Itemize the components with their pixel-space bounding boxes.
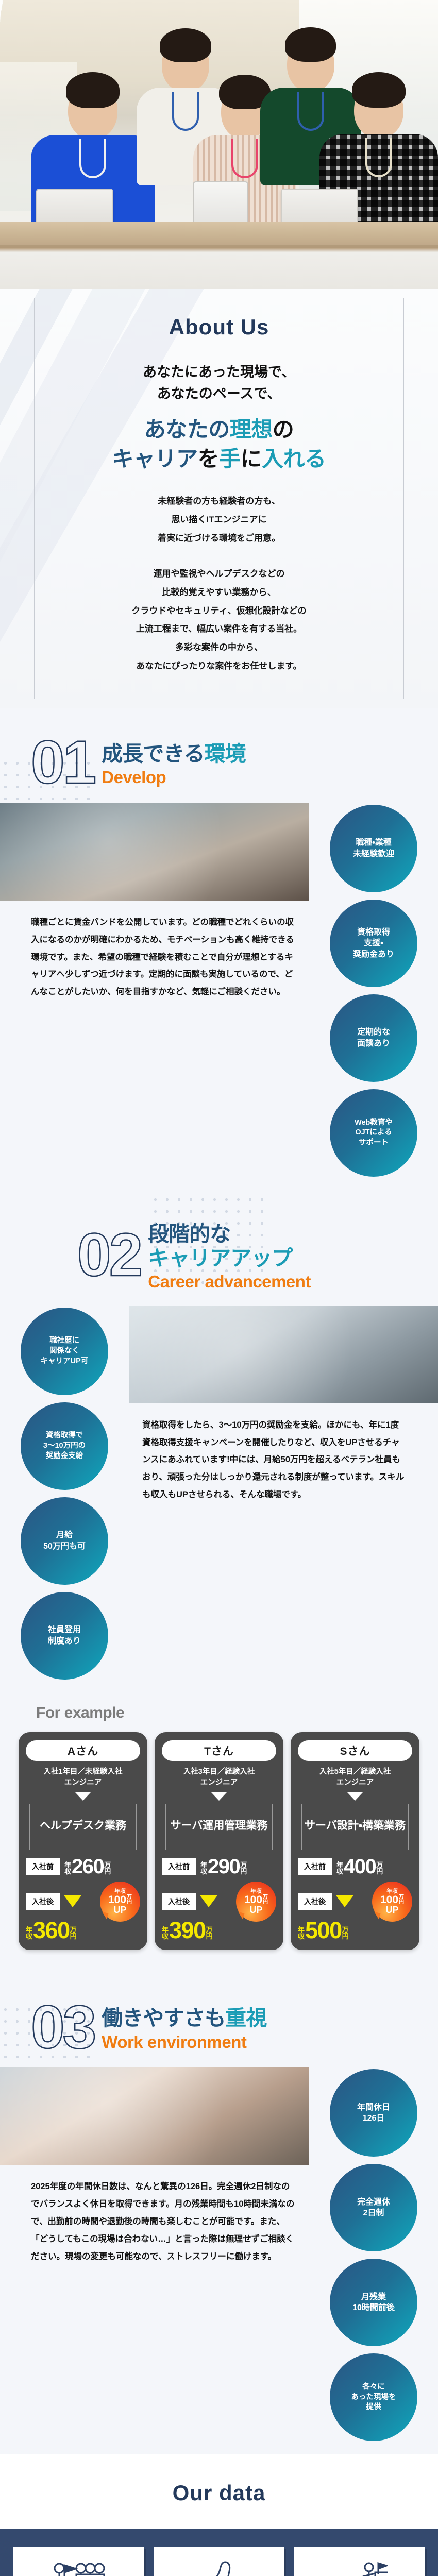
section-subtitle-02: Career advancement bbox=[148, 1272, 311, 1292]
thumbs-up-icon bbox=[191, 2560, 247, 2576]
yellow-triangle-icon bbox=[336, 1895, 353, 1907]
triangle-down-icon bbox=[75, 1792, 91, 1801]
about-hl-1a: あなたの bbox=[144, 417, 230, 442]
team-flag-icon bbox=[48, 2560, 109, 2576]
bubble-up-number: 100 bbox=[380, 1894, 398, 1905]
card-meta-line-2: エンジニア bbox=[26, 1777, 140, 1788]
about-hl-2a: キャリア bbox=[112, 447, 197, 471]
data-tile: 3〜5年の長期プロジェクトで安定就業 bbox=[154, 2547, 284, 2576]
before-tag: 入社前 bbox=[162, 1858, 196, 1875]
about-sub-line-3: 着実に近づける環境をご用意。 bbox=[46, 529, 392, 548]
badge-kanzen-shukyu: 完全週休2日制 bbox=[330, 2164, 417, 2251]
card-meta-line-1: 入社5年目／経験入社 bbox=[298, 1767, 412, 1777]
hero-photo bbox=[0, 0, 438, 289]
card-role: サーバ運用管理業務 bbox=[165, 1804, 273, 1850]
section-title-01-part-a: 成長できる bbox=[102, 742, 204, 766]
section-01-body: 職種ごとに賃金バンドを公開しています。どの職種でどれくらいの収入になるのかが明確… bbox=[0, 901, 309, 1006]
about-hl-2b: を bbox=[197, 447, 219, 471]
about-body-line-1: 運用や監視やヘルプデスクなどの bbox=[46, 565, 392, 583]
badge-teikiteki-mendan: 定期的な面談あり bbox=[330, 994, 417, 1082]
card-meta-line-1: 入社3年目／経験入社 bbox=[162, 1767, 276, 1777]
our-data-grid: 5〜10名のチーム参画 3〜5年の長期プロジェクトで安定就業 活躍中社員のうち7… bbox=[13, 2547, 425, 2576]
section-title-01: 成長できる環境 bbox=[102, 742, 245, 766]
bubble-income-label: 年収 bbox=[114, 1889, 126, 1894]
for-example-section: For example Aさん 入社1年目／未経験入社 エンジニア ヘルプデスク… bbox=[0, 1693, 438, 1973]
about-section: About Us あなたにあった現場で、 あなたのペースで、 あなたの理想の キ… bbox=[0, 289, 438, 708]
badge-tsuki-zangyo: 月残業10時間前後 bbox=[330, 2259, 417, 2346]
about-body-line-5: 多彩な案件の中から、 bbox=[46, 638, 392, 657]
section-03-body: 2025年度の年間休日数は、なんと驚異の126日。完全週休2日制なのでバランスよ… bbox=[0, 2165, 309, 2270]
bubble-up-number: 100 bbox=[244, 1894, 262, 1905]
section-subtitle-03: Work environment bbox=[102, 2032, 266, 2053]
section-number-02: 02 bbox=[77, 1229, 141, 1281]
before-amount: 年収 290 万円 bbox=[200, 1857, 247, 1876]
card-meta-line-2: エンジニア bbox=[298, 1777, 412, 1788]
amount-unit-after: 万円 bbox=[206, 1926, 213, 1941]
badge-career-up-kanokei: 職社歴に関係なくキャリアUP可 bbox=[21, 1308, 108, 1395]
card-person-name: Tさん bbox=[162, 1740, 276, 1761]
before-tag: 入社前 bbox=[26, 1858, 60, 1875]
section-title-03: 働きやすさも重視 bbox=[102, 2006, 266, 2030]
salary-card: Sさん 入社5年目／経験入社 エンジニア サーバ設計・構築業務 入社前 年収 4… bbox=[291, 1732, 419, 1950]
about-heading: About Us bbox=[156, 315, 283, 339]
for-example-label: For example bbox=[0, 1697, 438, 1732]
bubble-amount: 100万円 bbox=[108, 1894, 132, 1905]
up-bubble: 年収 100万円 UP bbox=[236, 1882, 276, 1922]
before-number: 290 bbox=[208, 1857, 240, 1876]
about-body-line-6: あなたにぴったりな案件をお任せします。 bbox=[46, 657, 392, 675]
salary-card: Tさん 入社3年目／経験入社 エンジニア サーバ運用管理業務 入社前 年収 29… bbox=[155, 1732, 283, 1950]
our-data-heading-block: Our data bbox=[0, 2454, 438, 2529]
bubble-up-label: UP bbox=[113, 1905, 126, 1914]
section-03-photo bbox=[0, 2067, 309, 2165]
after-tag: 入社後 bbox=[162, 1893, 196, 1910]
badge-genba-teikyou: 各々にあった現場を提供 bbox=[330, 2353, 417, 2441]
bubble-income-label: 年収 bbox=[250, 1889, 262, 1894]
card-person-name: Sさん bbox=[298, 1740, 412, 1761]
after-number: 390 bbox=[169, 1920, 206, 1941]
section-title-01-part-b: 環境 bbox=[204, 742, 245, 766]
section-01-badges: 職種・業種未経験歓迎 資格取得支援・奨励金あり 定期的な面談あり Web教育やO… bbox=[309, 803, 438, 1177]
section-subtitle-01: Develop bbox=[102, 767, 245, 788]
card-role: サーバ設計・構築業務 bbox=[301, 1804, 409, 1850]
section-title-02-part-a: 段階的な bbox=[148, 1222, 230, 1246]
amount-unit-after: 万円 bbox=[342, 1926, 349, 1941]
about-headline-line-1: あなたの理想の bbox=[46, 415, 392, 445]
up-bubble: 年収 100万円 UP bbox=[372, 1882, 412, 1922]
card-before-row: 入社前 年収 400 万円 bbox=[298, 1857, 412, 1876]
section-01-photo bbox=[0, 803, 309, 901]
landing-page: About Us あなたにあった現場で、 あなたのペースで、 あなたの理想の キ… bbox=[0, 0, 438, 2576]
before-tag: 入社前 bbox=[298, 1858, 332, 1875]
section-02-photo bbox=[129, 1306, 438, 1403]
salary-example-cards: Aさん 入社1年目／未経験入社 エンジニア ヘルプデスク業務 入社前 年収 26… bbox=[0, 1732, 438, 1950]
income-label-after: 年収 bbox=[298, 1926, 305, 1941]
income-label-after: 年収 bbox=[26, 1926, 32, 1941]
data-tile: 5〜10名のチーム参画 bbox=[13, 2547, 144, 2576]
section-02-body: 資格取得をしたら、3〜10万円の奨励金を支給。ほかにも、年に1度資格取得支援キャ… bbox=[129, 1403, 438, 1509]
about-body-line-4: 上流工程まで、幅広い案件を有する当社。 bbox=[46, 620, 392, 638]
about-headline: あなたの理想の キャリアを手に入れる bbox=[46, 415, 392, 473]
section-title-03-part-b: 重視 bbox=[225, 2006, 266, 2030]
about-hl-2d: に bbox=[241, 447, 262, 471]
after-amount: 年収 360 万円 bbox=[26, 1920, 140, 1941]
after-amount: 年収 390 万円 bbox=[162, 1920, 276, 1941]
about-hl-1c: の bbox=[273, 417, 294, 442]
before-number: 400 bbox=[344, 1857, 376, 1876]
about-bodytext: 運用や監視やヘルプデスクなどの 比較的覚えやすい業務から、 クラウドやセキュリテ… bbox=[46, 565, 392, 675]
triangle-down-icon bbox=[347, 1792, 363, 1801]
about-sub-line-1: 未経験者の方も経験者の方も、 bbox=[46, 492, 392, 511]
after-amount: 年収 500 万円 bbox=[298, 1920, 412, 1941]
salary-card: Aさん 入社1年目／未経験入社 エンジニア ヘルプデスク業務 入社前 年収 26… bbox=[19, 1732, 147, 1950]
badge-shokushu-mikeiken: 職種・業種未経験歓迎 bbox=[330, 805, 417, 892]
section-number-01: 01 bbox=[31, 737, 94, 789]
amount-unit: 万円 bbox=[376, 1861, 383, 1876]
card-before-row: 入社前 年収 260 万円 bbox=[26, 1857, 140, 1876]
about-hl-1b: 理想 bbox=[230, 417, 273, 442]
section-02-badges: 職社歴に関係なくキャリアUP可 資格取得で3〜10万円の奨励金支給 月給50万円… bbox=[0, 1306, 129, 1680]
after-number: 360 bbox=[33, 1920, 70, 1941]
after-tag: 入社後 bbox=[26, 1893, 60, 1910]
card-role: ヘルプデスク業務 bbox=[29, 1804, 137, 1850]
triangle-down-icon bbox=[211, 1792, 227, 1801]
card-after-row: 入社後 年収 100万円 UP bbox=[26, 1882, 140, 1922]
section-title-02-part-b: キャリアアップ bbox=[148, 1246, 292, 1270]
card-meta: 入社3年目／経験入社 エンジニア bbox=[162, 1767, 276, 1788]
badge-nenkan-kyujitsu: 年間休日126日 bbox=[330, 2069, 417, 2157]
bubble-amount: 100万円 bbox=[380, 1894, 404, 1905]
about-lead-line-2: あなたのペースで、 bbox=[46, 383, 392, 405]
amount-unit-after: 万円 bbox=[70, 1926, 77, 1941]
about-lead-line-1: あなたにあった現場で、 bbox=[46, 362, 392, 383]
bubble-income-label: 年収 bbox=[386, 1889, 398, 1894]
card-person-name: Aさん bbox=[26, 1740, 140, 1761]
card-meta-line-2: エンジニア bbox=[162, 1777, 276, 1788]
badge-shoureikin-shikyu: 資格取得で3〜10万円の奨励金支給 bbox=[21, 1402, 108, 1490]
before-amount: 年収 400 万円 bbox=[336, 1857, 383, 1876]
card-after-row: 入社後 年収 100万円 UP bbox=[298, 1882, 412, 1922]
our-data-grid-section: 5〜10名のチーム参画 3〜5年の長期プロジェクトで安定就業 活躍中社員のうち7… bbox=[0, 2529, 438, 2576]
yellow-triangle-icon bbox=[200, 1895, 217, 1907]
about-lead: あなたにあった現場で、 あなたのペースで、 bbox=[46, 362, 392, 405]
after-tag: 入社後 bbox=[298, 1893, 332, 1910]
about-hl-2e: 入れる bbox=[262, 447, 326, 471]
bubble-up-number: 100 bbox=[108, 1894, 126, 1905]
data-tile: 活躍中社員のうち7割が入社5年以上 bbox=[294, 2547, 425, 2576]
up-bubble: 年収 100万円 UP bbox=[100, 1882, 140, 1922]
about-hl-2c: 手 bbox=[219, 447, 241, 471]
yellow-triangle-icon bbox=[64, 1895, 81, 1907]
hero-desk bbox=[0, 222, 438, 289]
income-label: 年収 bbox=[336, 1861, 343, 1876]
about-subtext: 未経験者の方も経験者の方も、 思い描くITエンジニアに 着実に近づける環境をご用… bbox=[46, 492, 392, 547]
before-amount: 年収 260 万円 bbox=[64, 1857, 111, 1876]
bubble-up-label: UP bbox=[249, 1905, 262, 1914]
income-label-after: 年収 bbox=[162, 1926, 169, 1941]
bubble-amount: 100万円 bbox=[244, 1894, 268, 1905]
income-label: 年収 bbox=[200, 1861, 207, 1876]
section-number-03: 03 bbox=[31, 2002, 94, 2054]
about-body-line-3: クラウドやセキュリティ、仮想化設計などの bbox=[46, 602, 392, 620]
section-title-02: 段階的なキャリアアップ bbox=[148, 1222, 311, 1270]
feature-section-03: 03 働きやすさも重視 Work environment 2025年度の年間休日… bbox=[0, 1973, 438, 2454]
badge-shikaku-shien: 資格取得支援・奨励金あり bbox=[330, 900, 417, 987]
card-meta: 入社5年目／経験入社 エンジニア bbox=[298, 1767, 412, 1788]
feature-section-01: 01 成長できる環境 Develop 職種ごとに賃金バンドを公開しています。どの… bbox=[0, 708, 438, 1190]
about-body-line-2: 比較的覚えやすい業務から、 bbox=[46, 583, 392, 602]
badge-shain-touyou: 社員登用制度あり bbox=[21, 1592, 108, 1680]
about-sub-line-2: 思い描くITエンジニアに bbox=[46, 511, 392, 529]
after-number: 500 bbox=[305, 1920, 342, 1941]
bubble-up-label: UP bbox=[385, 1905, 398, 1914]
section-title-03-part-a: 働きやすさも bbox=[102, 2006, 225, 2030]
card-meta-line-1: 入社1年目／未経験入社 bbox=[26, 1767, 140, 1777]
section-03-badges: 年間休日126日 完全週休2日制 月残業10時間前後 各々にあった現場を提供 bbox=[309, 2067, 438, 2441]
badge-gekkyu-50man: 月給50万円も可 bbox=[21, 1497, 108, 1585]
stairs-growth-icon bbox=[332, 2560, 388, 2576]
about-headline-line-2: キャリアを手に入れる bbox=[46, 445, 392, 474]
income-label: 年収 bbox=[64, 1861, 71, 1876]
card-after-row: 入社後 年収 100万円 UP bbox=[162, 1882, 276, 1922]
badge-web-ojt-support: Web教育やOJTによるサポート bbox=[330, 1089, 417, 1177]
card-meta: 入社1年目／未経験入社 エンジニア bbox=[26, 1767, 140, 1788]
before-number: 260 bbox=[72, 1857, 104, 1876]
amount-unit: 万円 bbox=[104, 1861, 111, 1876]
card-before-row: 入社前 年収 290 万円 bbox=[162, 1857, 276, 1876]
feature-section-02: 02 段階的なキャリアアップ Career advancement 資格取得をし… bbox=[0, 1190, 438, 1693]
amount-unit: 万円 bbox=[240, 1861, 247, 1876]
our-data-heading: Our data bbox=[159, 2481, 279, 2505]
